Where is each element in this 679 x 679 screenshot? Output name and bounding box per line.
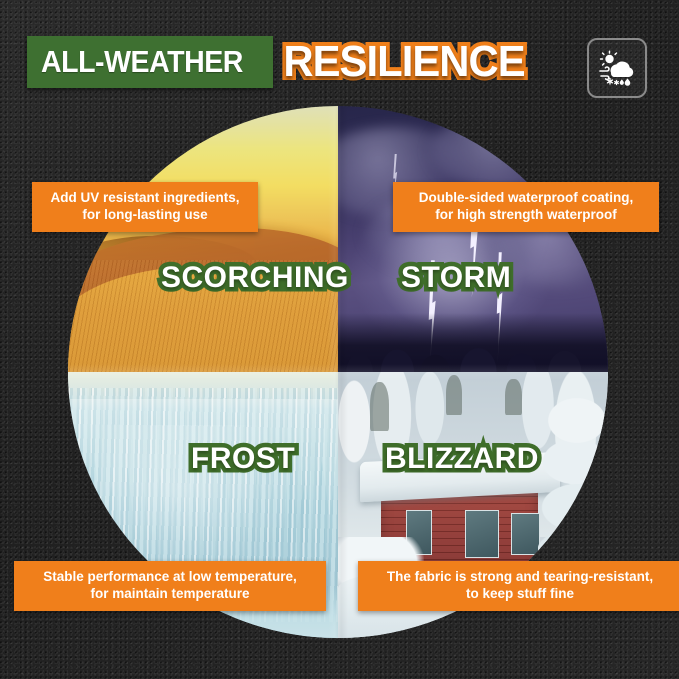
label-frost: FROST — [191, 442, 295, 476]
weather-badge — [587, 38, 647, 98]
header-green-bar: ALL-WEATHER — [27, 36, 273, 88]
storm-cloud — [430, 111, 587, 191]
scene-storm-sky — [338, 106, 608, 372]
callout-scorching: Add UV resistant ingredients, for long-l… — [32, 182, 258, 232]
cabin-window — [511, 513, 540, 555]
header-banner: ALL-WEATHER RESILIENCE — [27, 36, 539, 88]
header-title-right: RESILIENCE — [283, 36, 524, 88]
label-storm: STORM — [401, 261, 511, 295]
dark-tree — [505, 379, 521, 415]
scene-scorching-desert — [68, 106, 338, 372]
label-blizzard: BLIZZARD — [385, 442, 539, 476]
header-title-left: ALL-WEATHER — [41, 44, 243, 80]
label-scorching: SCORCHING — [161, 261, 349, 295]
dark-tree — [370, 382, 389, 431]
sun-cloud-rain-snow-icon — [597, 49, 637, 87]
all-weather-resilience-poster: ALL-WEATHER RESILIENCE — [0, 0, 679, 679]
callout-frost: Stable performance at low temperature, f… — [14, 561, 326, 611]
dark-tree — [446, 375, 462, 415]
header-title-right-wrap: RESILIENCE — [269, 36, 539, 88]
callout-blizzard: The fabric is strong and tearing-resista… — [358, 561, 679, 611]
storm-treeline — [338, 313, 608, 372]
cabin-window — [465, 510, 499, 557]
callout-storm: Double-sided waterproof coating, for hig… — [393, 182, 659, 232]
